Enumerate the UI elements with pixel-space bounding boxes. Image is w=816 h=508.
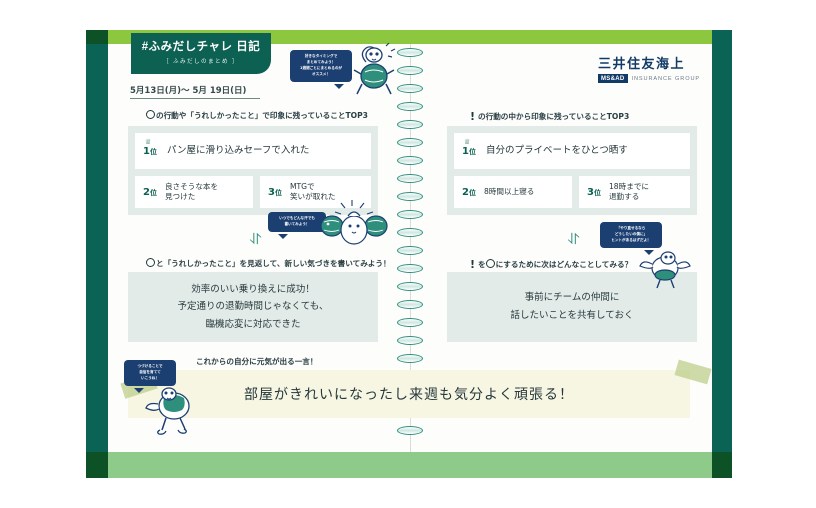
left-rank-2: 2位 良さそうな本を 見つけた xyxy=(135,176,253,208)
right-rank-1-number: ♕ 1位 xyxy=(462,146,476,157)
spiral-ring xyxy=(397,120,423,129)
bottom-green-band xyxy=(108,452,712,478)
left-spine-cap-top xyxy=(86,30,108,44)
right-rank-1-no: 1 xyxy=(462,146,469,157)
spiral-ring xyxy=(397,102,423,111)
left-reflection-text: 効率のいい乗り換えに成功！ 予定通りの退勤時間じゃなくても、 臨機応変に対応でき… xyxy=(178,281,329,334)
left-rank-2-number: 2位 xyxy=(143,187,157,198)
right-rank-3-number: 3位 xyxy=(587,187,601,198)
circle-icon xyxy=(146,110,155,119)
left-rank-1-text: パン屋に滑り込みセーフで入れた xyxy=(167,145,309,158)
left-rank-3-number: 3位 xyxy=(268,187,282,198)
exclamation-icon-2: ! xyxy=(470,258,475,271)
turtle-mascot-middle-group xyxy=(318,196,392,252)
turtle-mascot-top xyxy=(352,42,398,100)
right-ranking-panel: ♕ 1位 自分のプライベートをひとつ晒す 2位 8時間以上寝る 3位 18時まで… xyxy=(447,126,697,215)
spiral-ring xyxy=(397,246,423,255)
bottom-message: 部屋がきれいになったし来週も気分よく頑張る！ xyxy=(244,384,574,404)
spiral-ring xyxy=(397,318,423,327)
right-rank-3-no: 3 xyxy=(587,187,594,198)
circle-icon-3 xyxy=(486,259,495,268)
left-spine-cap-bottom xyxy=(86,452,108,478)
left-heading-text: の行動や「うれしかったこと」で印象に残っていることTOP3 xyxy=(156,111,368,120)
left-column-heading: の行動や「うれしかったこと」で印象に残っていることTOP3 xyxy=(146,110,368,121)
spiral-ring xyxy=(397,300,423,309)
left-reflect-heading: と「うれしかったこと」を見返して、新しい気づきを書いてみよう！ xyxy=(146,258,391,269)
spiral-ring xyxy=(397,264,423,273)
turtle-mascot-right xyxy=(638,242,692,290)
msad-badge: MS&AD xyxy=(598,74,628,83)
right-rank-2-unit: 位 xyxy=(469,189,476,197)
spiral-ring xyxy=(397,66,423,75)
spiral-ring xyxy=(397,210,423,219)
spiral-ring xyxy=(397,282,423,291)
left-rank-2-text: 良さそうな本を 見つけた xyxy=(165,182,218,203)
crown-icon: ♕ xyxy=(145,138,151,146)
exclamation-icon: ! xyxy=(470,110,475,123)
turtle-mascot-bottom xyxy=(144,378,204,436)
right-rank-3-text: 18時までに 退勤する xyxy=(609,182,649,203)
spiral-ring xyxy=(397,354,423,363)
right-reflect-heading: !をにするために次はどんなことしてみる？ xyxy=(470,258,632,271)
spiral-ring xyxy=(397,174,423,183)
right-heading-text: の行動の中から印象に残っていることTOP3 xyxy=(478,112,629,121)
bubble-top-tip: 好きなタイミングで まとめてみよう！ 1週間ごとにまとめるのが オススメ！ xyxy=(290,50,352,82)
right-column-heading: !の行動の中から印象に残っていることTOP3 xyxy=(470,110,629,123)
right-rank-2-number: 2位 xyxy=(462,187,476,198)
left-rank-1-no: 1 xyxy=(143,146,150,157)
left-down-arrow-icon: ⥯ xyxy=(250,232,261,247)
left-spine-strip xyxy=(86,30,108,478)
right-rank-1-text: 自分のプライベートをひとつ晒す xyxy=(486,145,628,158)
left-reflect-heading-text: と「うれしかったこと」を見返して、新しい気づきを書いてみよう！ xyxy=(156,259,391,268)
bottom-message-banner: 部屋がきれいになったし来週も気分よく頑張る！ xyxy=(128,370,690,418)
spiral-ring xyxy=(397,48,423,57)
spiral-ring xyxy=(397,138,423,147)
date-range: 5月13日(月)〜 5月 19日(日) xyxy=(130,84,260,99)
left-rank-1-number: ♕ 1位 xyxy=(143,146,157,157)
spiral-ring xyxy=(397,192,423,201)
right-rank-3-unit: 位 xyxy=(594,189,601,197)
company-logo: 三井住友海上 MS&AD INSURANCE GROUP xyxy=(598,58,700,83)
spiral-ring xyxy=(397,336,423,345)
spiral-ring xyxy=(397,84,423,93)
bottom-heading: これからの自分に元気が出る一言！ xyxy=(196,356,318,367)
right-spine-cap-bottom xyxy=(712,452,732,478)
right-reflect-mid: を xyxy=(478,260,486,269)
right-rank-2: 2位 8時間以上寝る xyxy=(454,176,572,208)
right-down-arrow-icon: ⥯ xyxy=(568,232,579,247)
diary-title: #ふみだしチャレ 日記 xyxy=(142,42,260,54)
left-reflection-box: 効率のいい乗り換えに成功！ 予定通りの退勤時間じゃなくても、 臨機応変に対応でき… xyxy=(128,272,378,342)
diary-subtitle: ［ ふみだしのまとめ ］ xyxy=(163,57,239,65)
right-rank-1: ♕ 1位 自分のプライベートをひとつ晒す xyxy=(454,133,690,169)
crown-icon-2: ♕ xyxy=(464,138,470,146)
left-rank-3-no: 3 xyxy=(268,187,275,198)
screenshot-root: #ふみだしチャレ 日記 ［ ふみだしのまとめ ］ 5月13日(月)〜 5月 19… xyxy=(0,0,816,508)
left-rank-3-unit: 位 xyxy=(275,189,282,197)
right-reflection-text: 事前にチームの仲間に 話したいことを共有しておく xyxy=(511,289,634,324)
circle-icon-2 xyxy=(146,258,155,267)
right-spine-strip xyxy=(712,30,732,478)
right-rank-2-text: 8時間以上寝る xyxy=(484,187,534,197)
left-rank-1: ♕ 1位 パン屋に滑り込みセーフで入れた xyxy=(135,133,371,169)
company-name-jp: 三井住友海上 xyxy=(598,58,700,71)
left-rank-2-unit: 位 xyxy=(150,189,157,197)
left-rank-1-unit: 位 xyxy=(150,148,157,156)
diary-title-badge: #ふみだしチャレ 日記 ［ ふみだしのまとめ ］ xyxy=(131,33,271,74)
spiral-ring xyxy=(397,228,423,237)
spiral-ring xyxy=(397,426,423,435)
left-rank-2-no: 2 xyxy=(143,187,150,198)
right-rank-1-unit: 位 xyxy=(469,148,476,156)
insurance-group-label: INSURANCE GROUP xyxy=(632,76,701,82)
right-reflect-heading-text: にするために次はどんなことしてみる？ xyxy=(496,260,633,269)
right-rank-2-no: 2 xyxy=(462,187,469,198)
spiral-ring xyxy=(397,156,423,165)
right-rank-3: 3位 18時までに 退勤する xyxy=(579,176,690,208)
